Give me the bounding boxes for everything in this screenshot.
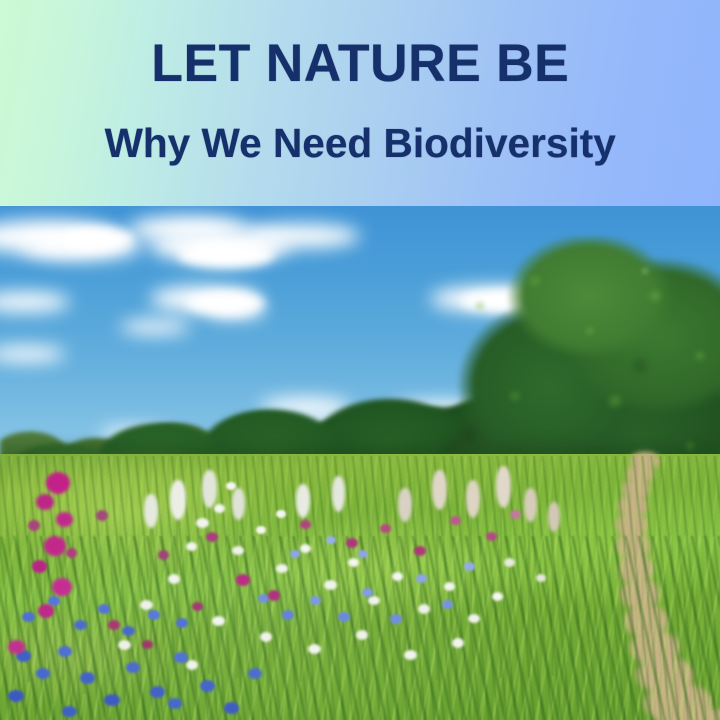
hero-photo (0, 206, 720, 720)
page-subtitle: Why We Need Biodiversity (104, 123, 615, 164)
header-text-block: LET NATURE BE Why We Need Biodiversity (0, 0, 720, 206)
page-title: LET NATURE BE (151, 37, 569, 90)
poster-canvas: LET NATURE BE Why We Need Biodiversity (0, 0, 720, 720)
photo-light-veil (0, 454, 720, 720)
header-banner: LET NATURE BE Why We Need Biodiversity (0, 0, 720, 206)
